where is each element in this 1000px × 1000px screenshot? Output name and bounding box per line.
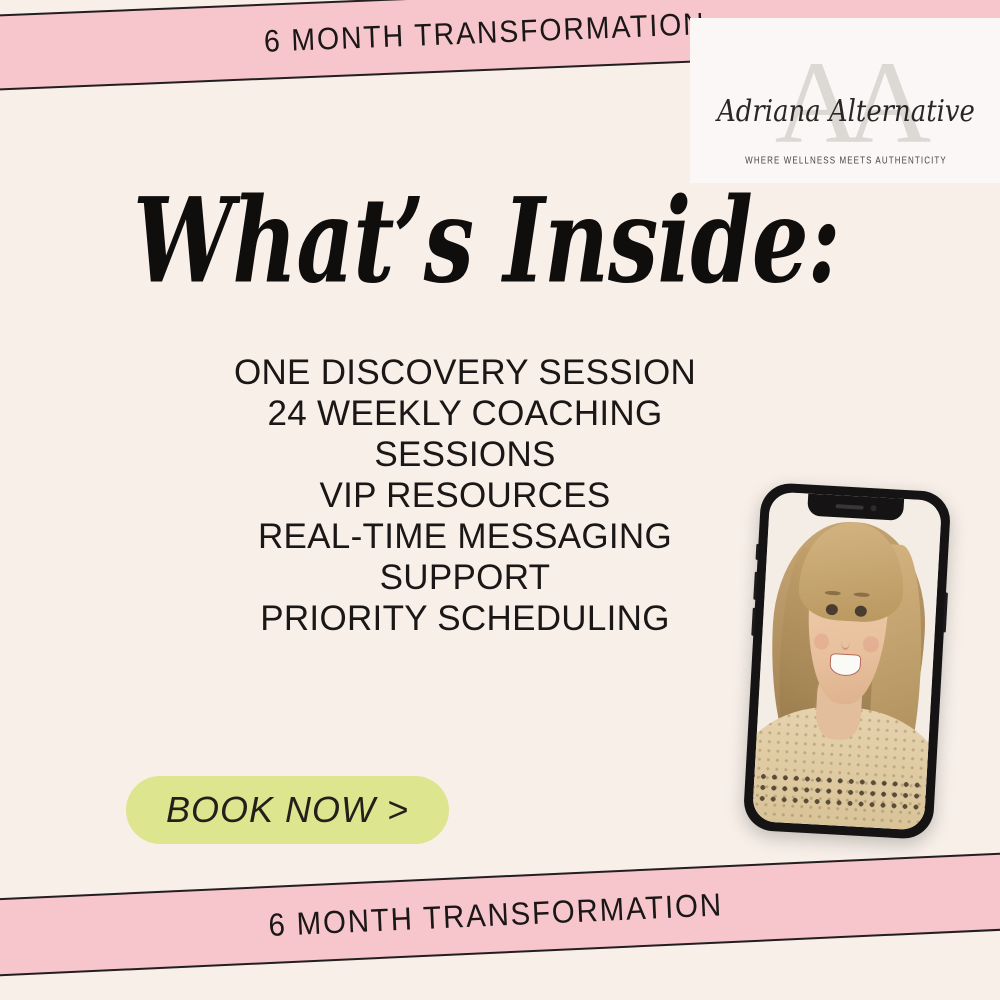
brand-tagline: WHERE WELLNESS MEETS AUTHENTICITY [690, 155, 1000, 166]
list-item: 24 WEEKLY COACHING [0, 393, 930, 434]
page-title: What’s Inside: [133, 178, 840, 305]
bottom-banner-label: 6 MONTH TRANSFORMATION [267, 886, 723, 944]
phone-mockup [742, 482, 951, 840]
phone-screen [752, 491, 942, 830]
phone-speaker-icon [835, 504, 863, 510]
promo-graphic: 6 MONTH TRANSFORMATION AA Adriana Altern… [0, 0, 1000, 1000]
list-item: ONE DISCOVERY SESSION [0, 352, 930, 393]
brand-wordmark: Adriana Alternative [696, 94, 996, 129]
book-now-button[interactable]: BOOK NOW > [126, 776, 449, 844]
book-now-label: BOOK NOW > [166, 789, 409, 831]
top-banner-label: 6 MONTH TRANSFORMATION [263, 6, 706, 60]
bottom-banner: 6 MONTH TRANSFORMATION [0, 851, 1000, 978]
logo-card: AA Adriana Alternative WHERE WELLNESS ME… [690, 18, 1000, 183]
coach-portrait-photo [752, 491, 942, 830]
list-item: SESSIONS [0, 434, 930, 475]
phone-camera-icon [870, 505, 876, 511]
